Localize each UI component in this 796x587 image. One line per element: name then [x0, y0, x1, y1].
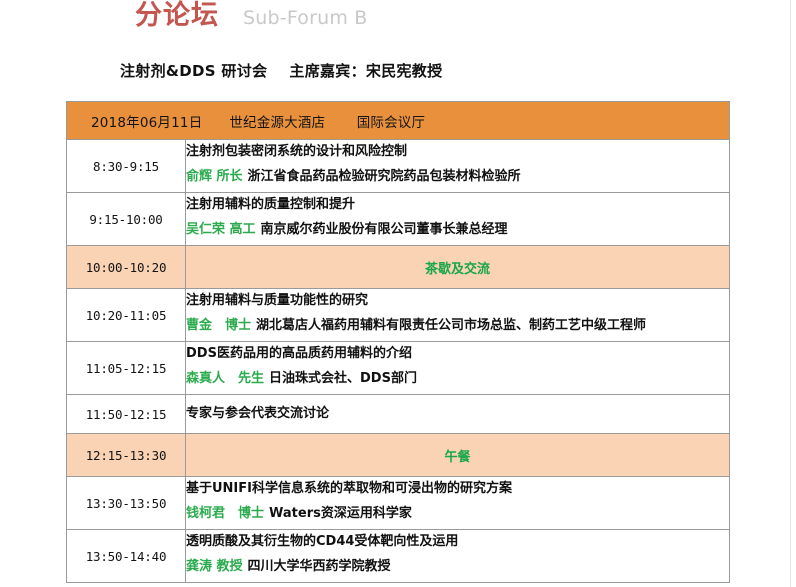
page-edge-rule [790, 0, 791, 587]
agenda-session-cell: 注射剂包装密闭系统的设计和风险控制俞辉 所长浙江省食品药品检验研究院药品包装材料… [186, 140, 730, 193]
agenda-speaker-name: 俞辉 所长 [186, 169, 243, 184]
agenda-session-cell: 专家与参会代表交流讨论 [186, 395, 730, 434]
agenda-speaker-affiliation: 日油珠式会社、DDS部门 [269, 371, 417, 386]
agenda-row: 10:20-11:05注射用辅料与质量功能性的研究曹金 博士湖北葛店人福药用辅料… [67, 289, 730, 342]
agenda-speaker-name: 龚涛 教授 [186, 559, 243, 574]
agenda-speaker-affiliation: 浙江省食品药品检验研究院药品包装材料检验所 [248, 169, 521, 184]
agenda-speaker-line: 龚涛 教授四川大学华西药学院教授 [186, 552, 729, 580]
agenda-row-time: 11:05-12:15 [67, 342, 186, 395]
agenda-speaker-line: 钱柯君 博士Waters资深运用科学家 [186, 499, 729, 527]
agenda-row: 13:30-13:50基于UNIFI科学信息系统的萃取物和可浸出物的研究方案钱柯… [67, 477, 730, 530]
agenda-session-title: 注射用辅料与质量功能性的研究 [186, 291, 729, 311]
agenda-session-title: 透明质酸及其衍生物的CD44受体靶向性及运用 [186, 532, 729, 552]
agenda-session-cell: 透明质酸及其衍生物的CD44受体靶向性及运用龚涛 教授四川大学华西药学院教授 [186, 530, 730, 583]
session-subheading: 注射剂&DDS 研讨会 主席嘉宾：宋民宪教授 [120, 60, 442, 81]
agenda-row-time: 13:50-14:40 [67, 530, 186, 583]
agenda-session-title: 基于UNIFI科学信息系统的萃取物和可浸出物的研究方案 [186, 479, 729, 499]
agenda-session-cell: 注射用辅料与质量功能性的研究曹金 博士湖北葛店人福药用辅料有限责任公司市场总监、… [186, 289, 730, 342]
agenda-row: 10:00-10:20茶歇及交流 [67, 246, 730, 289]
agenda-header-row: 2018年06月11日 世纪金源大酒店 国际会议厅 [67, 102, 730, 140]
agenda-session-title: 专家与参会代表交流讨论 [186, 404, 729, 424]
agenda-row-time: 10:20-11:05 [67, 289, 186, 342]
agenda-session-cell: DDS医药品用的高品质药用辅料的介绍森真人 先生日油珠式会社、DDS部门 [186, 342, 730, 395]
agenda-break-label: 茶歇及交流 [186, 246, 730, 289]
agenda-row-time: 8:30-9:15 [67, 140, 186, 193]
agenda-speaker-line: 曹金 博士湖北葛店人福药用辅料有限责任公司市场总监、制药工艺中级工程师 [186, 311, 729, 339]
agenda-session-title: 注射用辅料的质量控制和提升 [186, 195, 729, 215]
agenda-row-time: 12:15-13:30 [67, 434, 186, 477]
agenda-row-time: 9:15-10:00 [67, 193, 186, 246]
agenda-break-label: 午餐 [186, 434, 730, 477]
forum-title-english: Sub-Forum B [243, 9, 368, 28]
agenda-row: 8:30-9:15注射剂包装密闭系统的设计和风险控制俞辉 所长浙江省食品药品检验… [67, 140, 730, 193]
agenda-speaker-name: 森真人 先生 [186, 371, 264, 386]
agenda-speaker-affiliation: Waters资深运用科学家 [269, 506, 412, 521]
agenda-table-body: 2018年06月11日 世纪金源大酒店 国际会议厅 8:30-9:15注射剂包装… [67, 102, 730, 583]
agenda-session-cell: 注射用辅料的质量控制和提升吴仁荣 高工南京威尔药业股份有限公司董事长兼总经理 [186, 193, 730, 246]
agenda-header-text: 2018年06月11日 世纪金源大酒店 国际会议厅 [67, 111, 729, 131]
agenda-row: 9:15-10:00注射用辅料的质量控制和提升吴仁荣 高工南京威尔药业股份有限公… [67, 193, 730, 246]
agenda-speaker-affiliation: 湖北葛店人福药用辅料有限责任公司市场总监、制药工艺中级工程师 [256, 318, 646, 333]
masthead: 分论坛 Sub-Forum B [66, 2, 730, 46]
agenda-speaker-name: 曹金 博士 [186, 318, 251, 333]
agenda-session-title: DDS医药品用的高品质药用辅料的介绍 [186, 344, 729, 364]
agenda-session-title: 注射剂包装密闭系统的设计和风险控制 [186, 142, 729, 162]
agenda-row: 12:15-13:30午餐 [67, 434, 730, 477]
agenda-speaker-affiliation: 南京威尔药业股份有限公司董事长兼总经理 [261, 222, 508, 237]
agenda-header-cell: 2018年06月11日 世纪金源大酒店 国际会议厅 [67, 102, 730, 140]
agenda-row: 13:50-14:40透明质酸及其衍生物的CD44受体靶向性及运用龚涛 教授四川… [67, 530, 730, 583]
agenda-row: 11:05-12:15DDS医药品用的高品质药用辅料的介绍森真人 先生日油珠式会… [67, 342, 730, 395]
agenda-speaker-line: 俞辉 所长浙江省食品药品检验研究院药品包装材料检验所 [186, 162, 729, 190]
agenda-speaker-affiliation: 四川大学华西药学院教授 [248, 559, 391, 574]
agenda-speaker-name: 钱柯君 博士 [186, 506, 264, 521]
agenda-speaker-line: 吴仁荣 高工南京威尔药业股份有限公司董事长兼总经理 [186, 215, 729, 243]
agenda-speaker-name: 吴仁荣 高工 [186, 222, 256, 237]
agenda-session-cell: 基于UNIFI科学信息系统的萃取物和可浸出物的研究方案钱柯君 博士Waters资… [186, 477, 730, 530]
forum-title-chinese: 分论坛 [135, 2, 219, 29]
agenda-row: 11:50-12:15专家与参会代表交流讨论 [67, 395, 730, 434]
agenda-row-time: 10:00-10:20 [67, 246, 186, 289]
agenda-table: 2018年06月11日 世纪金源大酒店 国际会议厅 8:30-9:15注射剂包装… [66, 101, 730, 583]
agenda-row-time: 13:30-13:50 [67, 477, 186, 530]
agenda-speaker-line: 森真人 先生日油珠式会社、DDS部门 [186, 364, 729, 392]
agenda-row-time: 11:50-12:15 [67, 395, 186, 434]
